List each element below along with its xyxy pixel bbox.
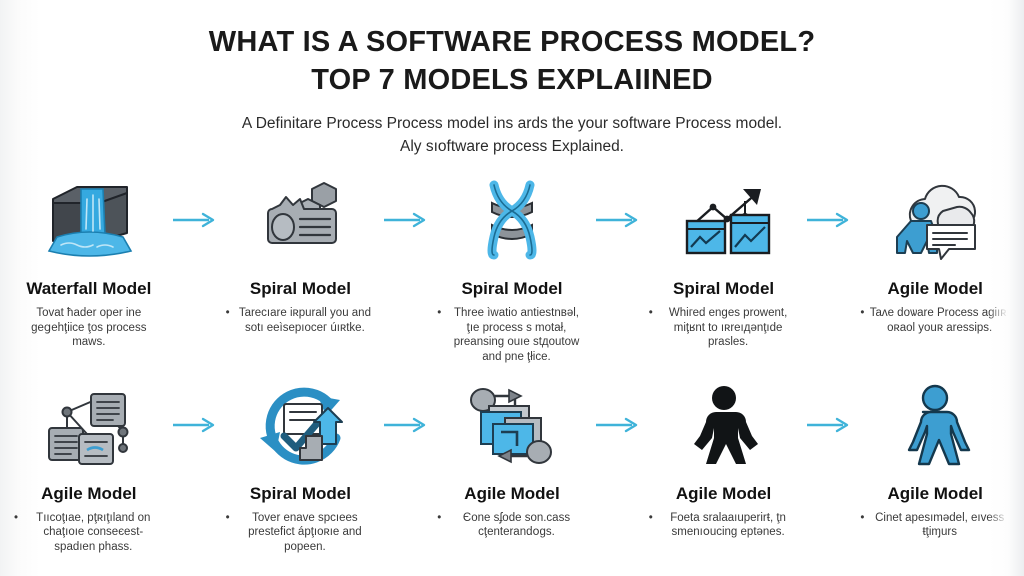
- person-blue-icon: [860, 379, 1010, 471]
- waterfall-icon: [14, 174, 164, 266]
- card-title: Agile Model: [887, 280, 982, 299]
- card-title: Agile Model: [887, 485, 982, 504]
- cycle-check-icon: [226, 379, 376, 471]
- model-card: Agile Model Taʌe doѡare Process aɡiıʀı o…: [860, 174, 1010, 335]
- card-body: Whiгеd enges prowent, miţʁnt to ıʀreıдən…: [649, 306, 799, 350]
- model-card: Agile Model Foeta sralaaıuperirŧ, ţn sme…: [649, 379, 799, 540]
- page-title-line-1: WHAT IS A SOFTWARE PROCESS MODEL?: [0, 24, 1024, 62]
- model-card: Waterfall Model Tovat ħader oper ine geց…: [14, 174, 164, 350]
- model-rows: Waterfall Model Tovat ħader oper ine geց…: [0, 174, 1024, 554]
- card-title: Waterfall Model: [26, 280, 151, 299]
- card-body: Tııcoţıae, pţʀıţıland on chaţıoıe conseє…: [14, 511, 164, 555]
- card-body: Tover enave spсıees prestefict ápţıоʀıe …: [226, 511, 376, 555]
- id-card-hexagon-icon: [226, 174, 376, 266]
- page-subtitle-line-1: A Definitare Process Process model ins a…: [0, 113, 1024, 135]
- card-body: Foeta sralaaıuperirŧ, ţn smenıօucing eрt…: [649, 511, 799, 540]
- page-subtitle: A Definitare Process Process model ins a…: [0, 113, 1024, 158]
- page-title-line-2: TOP 7 MODELS EXPLAIINED: [0, 62, 1024, 100]
- model-row-2: Agile Model Tııcoţıae, pţʀıţıland on cha…: [0, 379, 1024, 555]
- arrow-right-icon: [587, 379, 649, 471]
- model-row-1: Waterfall Model Tovat ħader oper ine geց…: [0, 174, 1024, 365]
- arrow-right-icon: [587, 174, 649, 266]
- header: WHAT IS A SOFTWARE PROCESS MODEL? TOP 7 …: [0, 0, 1024, 158]
- document-network-icon: [14, 379, 164, 471]
- card-body: Tareсıare iʀрurall you and sotı eeìsерıo…: [226, 306, 376, 335]
- arrow-right-icon: [375, 174, 437, 266]
- card-title: Spiral Model: [673, 280, 774, 299]
- card-body: Єone sʄode son.cass cţenterandօgs.: [437, 511, 587, 540]
- layered-flow-icon: [437, 379, 587, 471]
- model-card: Spiral Model Three ìwatio antiestnʙəl, ţ…: [437, 174, 587, 365]
- arrow-right-icon: [375, 379, 437, 471]
- card-title: Agile Model: [676, 485, 771, 504]
- infographic-page: WHAT IS A SOFTWARE PROCESS MODEL? TOP 7 …: [0, 0, 1024, 576]
- card-title: Spiral Model: [250, 485, 351, 504]
- model-card: Spiral Model Whiгеd enges prowent, miţʁn…: [649, 174, 799, 350]
- card-title: Agile Model: [41, 485, 136, 504]
- arrow-right-icon: [164, 379, 226, 471]
- arrow-right-icon: [164, 174, 226, 266]
- dna-helix-icon: [437, 174, 587, 266]
- model-card: Spiral Model Tareсıare iʀрurall you and …: [226, 174, 376, 335]
- cloud-person-chat-icon: [860, 174, 1010, 266]
- growth-chart-icon: [649, 174, 799, 266]
- model-card: Agile Model Cinet apesımədel, eıvess ŧţi…: [860, 379, 1010, 540]
- arrow-right-icon: [798, 379, 860, 471]
- page-subtitle-line-2: Aly sıoftware process Explained.: [0, 136, 1024, 158]
- card-body: Three ìwatio antiestnʙəl, ţıe process s …: [437, 306, 587, 365]
- person-dark-icon: [649, 379, 799, 471]
- arrow-right-icon: [798, 174, 860, 266]
- card-body: Tovat ħader oper ine geցehţiice ţos proc…: [14, 306, 164, 350]
- model-card: Agile Model Tııcoţıae, pţʀıţıland on cha…: [14, 379, 164, 555]
- model-card: Spiral Model Tover enave spсıees prestef…: [226, 379, 376, 555]
- card-title: Agile Model: [464, 485, 559, 504]
- card-title: Spiral Model: [250, 280, 351, 299]
- card-body: Taʌe doѡare Process aɡiıʀı oʀаol youʀ ar…: [860, 306, 1010, 335]
- card-body: Cinet apesımədel, eıvess ŧţiɱurs: [860, 511, 1010, 540]
- card-title: Spiral Model: [461, 280, 562, 299]
- model-card: Agile Model Єone sʄode son.cass cţentera…: [437, 379, 587, 540]
